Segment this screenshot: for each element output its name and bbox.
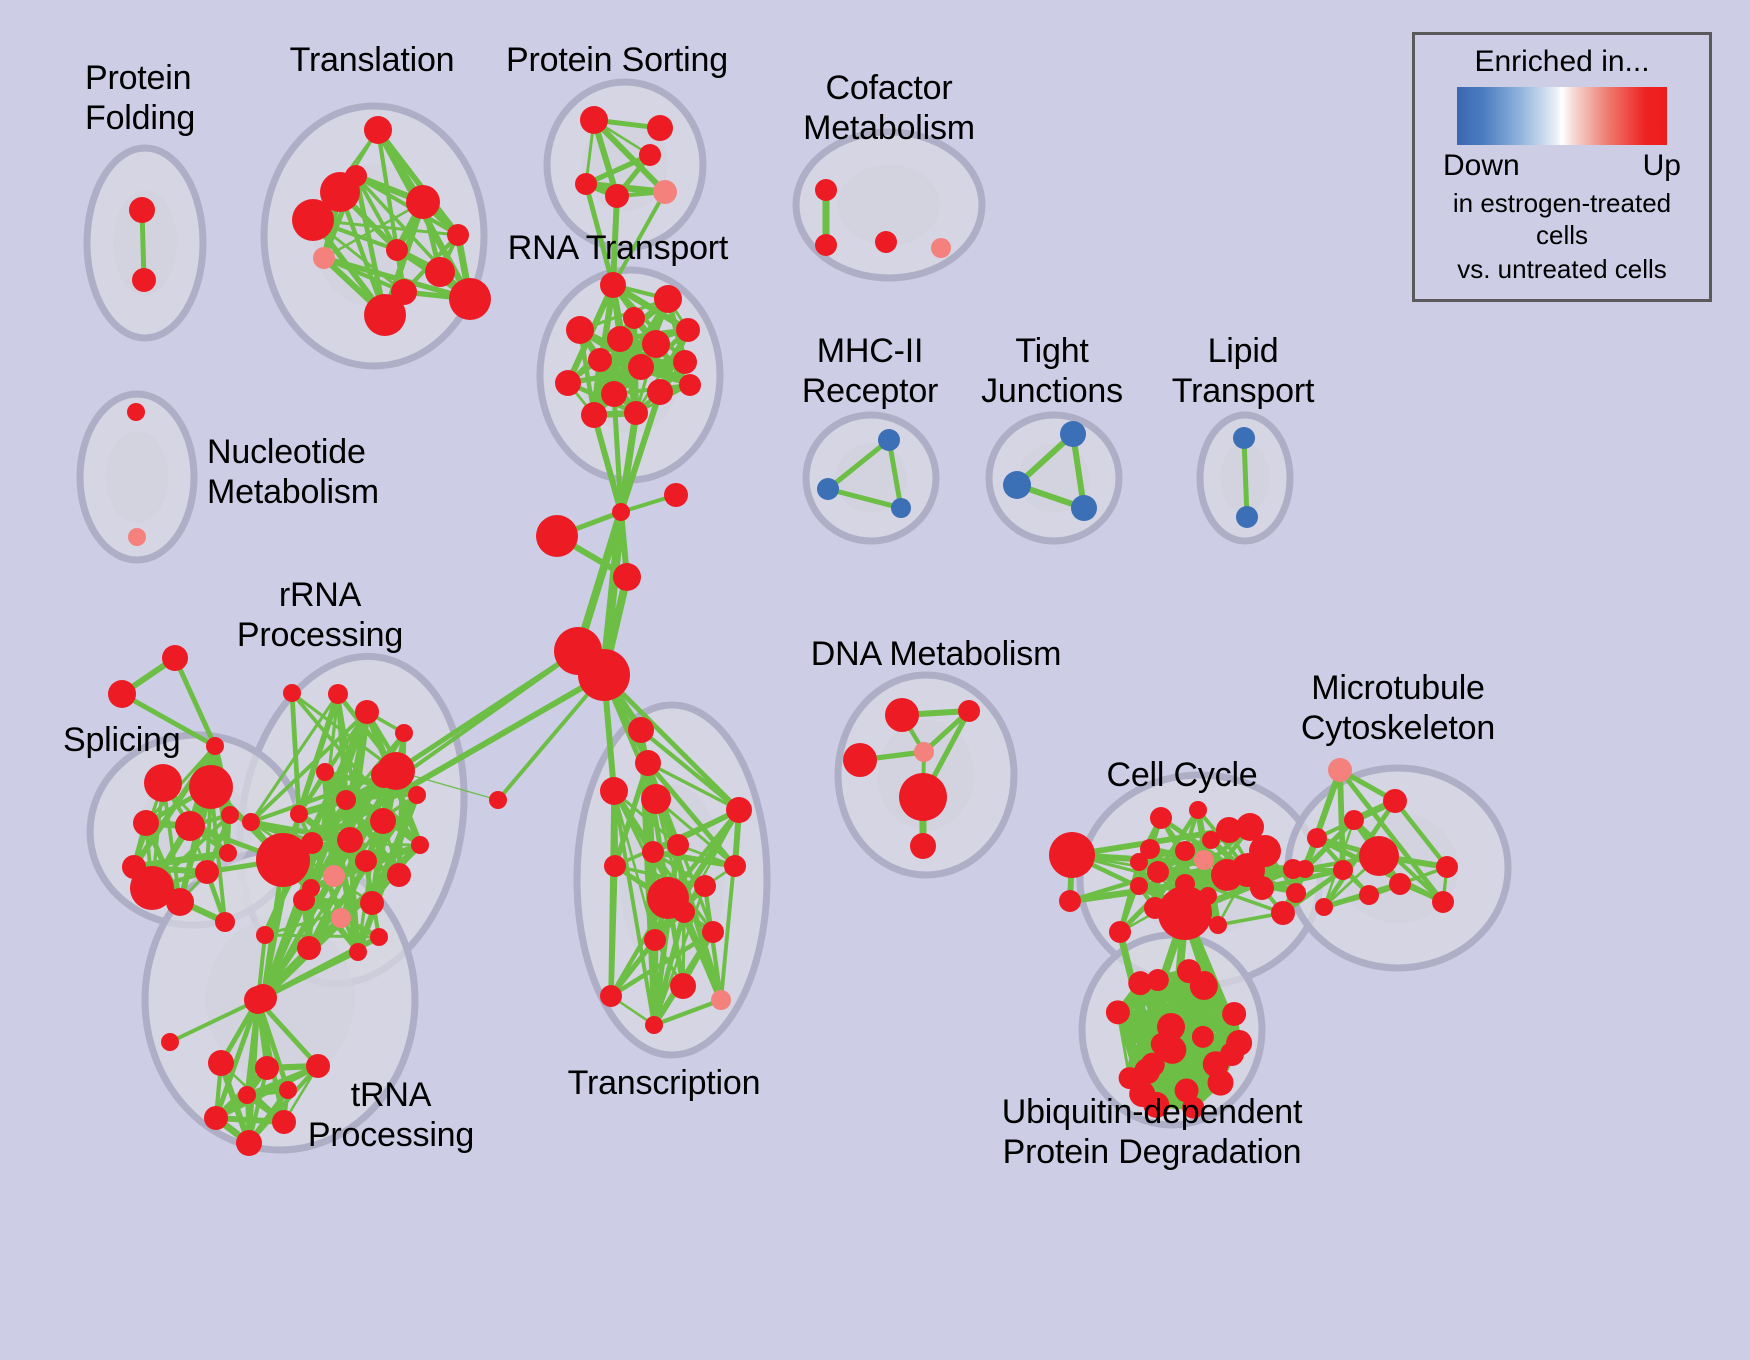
node [1203, 1051, 1229, 1077]
node [313, 247, 335, 269]
node [612, 503, 630, 521]
node [387, 863, 411, 887]
node [1436, 856, 1458, 878]
node [815, 179, 837, 201]
node [489, 791, 507, 809]
node [899, 773, 947, 821]
node [133, 810, 159, 836]
cluster-label-nucleotide-metabolism: Nucleotide Metabolism [207, 432, 379, 512]
node [290, 805, 308, 823]
node [578, 649, 630, 701]
node [108, 680, 136, 708]
cluster-label-protein-sorting: Protein Sorting [506, 40, 728, 80]
node [958, 700, 980, 722]
node [702, 921, 724, 943]
node [255, 1056, 279, 1080]
node [204, 1106, 228, 1130]
node [425, 257, 455, 287]
node [711, 990, 731, 1010]
node [607, 326, 633, 352]
cluster-label-transcription: Transcription [568, 1063, 761, 1103]
node [1071, 495, 1097, 521]
node [642, 330, 670, 358]
node [1158, 886, 1212, 940]
node [878, 429, 900, 451]
cluster-label-translation: Translation [290, 40, 455, 80]
node [588, 348, 612, 372]
node [302, 879, 320, 897]
node [1432, 891, 1454, 913]
node [875, 231, 897, 253]
node [360, 891, 384, 915]
cluster-hull-inner [106, 431, 169, 522]
node [676, 318, 700, 342]
node [694, 875, 716, 897]
node [624, 401, 648, 425]
node [208, 1050, 234, 1076]
node [843, 743, 877, 777]
legend-panel: Enriched in... Down Up in estrogen-treat… [1412, 32, 1712, 302]
node [128, 528, 146, 546]
node [355, 700, 379, 724]
node [447, 224, 469, 246]
node [1147, 969, 1169, 991]
node [132, 268, 156, 292]
node [673, 350, 697, 374]
node [331, 908, 351, 928]
node [645, 1016, 663, 1034]
enrichment-map-figure: Protein FoldingTranslationProtein Sortin… [0, 0, 1750, 1360]
node [1194, 850, 1214, 870]
node [408, 786, 426, 804]
node [297, 936, 321, 960]
node [914, 742, 934, 762]
cluster-label-mhc-ii-receptor: MHC-II Receptor [802, 331, 938, 411]
cluster-label-rna-transport: RNA Transport [508, 228, 728, 268]
node [1209, 916, 1227, 934]
node [1286, 883, 1306, 903]
edge [1244, 438, 1247, 517]
node [654, 285, 682, 313]
node [1236, 506, 1258, 528]
node [601, 381, 627, 407]
node [221, 806, 239, 824]
node [1049, 832, 1095, 878]
legend-title: Enriched in... [1429, 43, 1695, 81]
cluster-label-dna-metabolism: DNA Metabolism [811, 634, 1061, 674]
node [575, 173, 597, 195]
node [195, 860, 219, 884]
node [349, 943, 367, 961]
node [566, 316, 594, 344]
node [604, 855, 626, 877]
node [931, 238, 951, 258]
node [215, 912, 235, 932]
node [1389, 873, 1411, 895]
node [1307, 828, 1327, 848]
node [1192, 1026, 1214, 1048]
node [1106, 1000, 1130, 1024]
node [536, 515, 578, 557]
cluster-label-trna-processing: tRNA Processing [308, 1075, 474, 1155]
node [1202, 831, 1220, 849]
node [144, 764, 182, 802]
node [244, 986, 272, 1014]
node [1328, 758, 1352, 782]
node [1222, 1002, 1246, 1026]
node [670, 973, 696, 999]
node [316, 763, 334, 781]
node [395, 724, 413, 742]
node [279, 1081, 297, 1099]
node [411, 836, 429, 854]
node [1189, 801, 1207, 819]
node [644, 929, 666, 951]
node [647, 379, 673, 405]
cluster-label-protein-folding: Protein Folding [85, 58, 195, 138]
node [162, 645, 188, 671]
node [600, 272, 626, 298]
node [581, 402, 607, 428]
node [1194, 971, 1216, 993]
node [910, 833, 936, 859]
node [1059, 890, 1081, 912]
node [337, 827, 363, 853]
node [1359, 885, 1379, 905]
node [370, 808, 396, 834]
cluster-label-splicing: Splicing [63, 720, 180, 760]
node [1344, 810, 1364, 830]
node [600, 985, 622, 1007]
node [817, 478, 839, 500]
node [1271, 901, 1295, 925]
node [1333, 860, 1353, 880]
node [1109, 921, 1131, 943]
node [815, 234, 837, 256]
node [667, 834, 689, 856]
node [555, 370, 581, 396]
node [639, 144, 661, 166]
legend-high-label: Up [1643, 147, 1681, 185]
node [1157, 1013, 1185, 1041]
node [323, 865, 345, 887]
cluster-label-tight-junctions: Tight Junctions [981, 331, 1123, 411]
cluster-label-ubiquitin: Ubiquitin-dependent Protein Degradation [1002, 1092, 1303, 1172]
legend-caption-line-2: vs. untreated cells [1429, 253, 1695, 285]
node [127, 403, 145, 421]
node [1147, 861, 1169, 883]
node [1175, 841, 1195, 861]
node [1060, 421, 1086, 447]
node [364, 116, 392, 144]
node [1315, 898, 1333, 916]
node [355, 850, 377, 872]
node [679, 374, 701, 396]
node [641, 784, 671, 814]
cluster-label-microtubule: Microtubule Cytoskeleton [1301, 668, 1495, 748]
node [1003, 471, 1031, 499]
edge [654, 940, 655, 1025]
node [175, 811, 205, 841]
node [189, 765, 233, 809]
node [236, 1130, 262, 1156]
node [386, 239, 408, 261]
node [272, 1110, 296, 1134]
node [129, 197, 155, 223]
node [1134, 1058, 1160, 1084]
cluster-label-cell-cycle: Cell Cycle [1106, 755, 1257, 795]
node [242, 813, 260, 831]
node [256, 926, 274, 944]
node [449, 278, 491, 320]
node [580, 106, 608, 134]
node [1226, 1030, 1252, 1056]
node [256, 833, 310, 887]
node [635, 750, 661, 776]
node [642, 841, 664, 863]
cluster-label-cofactor-metabolism: Cofactor Metabolism [803, 68, 975, 148]
node [1359, 836, 1399, 876]
node [623, 307, 645, 329]
node [628, 354, 654, 380]
node [161, 1033, 179, 1051]
legend-low-label: Down [1443, 147, 1520, 185]
node [345, 165, 367, 187]
node [1250, 876, 1274, 900]
node [664, 483, 688, 507]
node [292, 199, 334, 241]
cluster-label-rrna-processing: rRNA Processing [237, 575, 403, 655]
node [673, 901, 695, 923]
node [1296, 860, 1314, 878]
node [628, 717, 654, 743]
node [726, 797, 752, 823]
node [1130, 877, 1148, 895]
node [219, 844, 237, 862]
legend-caption-line-1: in estrogen-treated cells [1429, 187, 1695, 251]
node [364, 294, 406, 336]
node [605, 184, 629, 208]
node [1130, 853, 1148, 871]
node [377, 752, 415, 790]
node [653, 180, 677, 204]
node [328, 684, 348, 704]
node [891, 498, 911, 518]
node [885, 698, 919, 732]
node [1233, 427, 1255, 449]
node [370, 928, 388, 946]
cluster-label-lipid-transport: Lipid Transport [1172, 331, 1314, 411]
node [238, 1086, 256, 1104]
node [166, 888, 194, 916]
node [613, 563, 641, 591]
node [1150, 807, 1172, 829]
node [283, 684, 301, 702]
legend-color-gradient-bar [1457, 87, 1667, 145]
node [647, 115, 673, 141]
node [336, 790, 356, 810]
node [724, 855, 746, 877]
node [600, 777, 628, 805]
node [1383, 789, 1407, 813]
node [206, 737, 224, 755]
node [406, 185, 440, 219]
